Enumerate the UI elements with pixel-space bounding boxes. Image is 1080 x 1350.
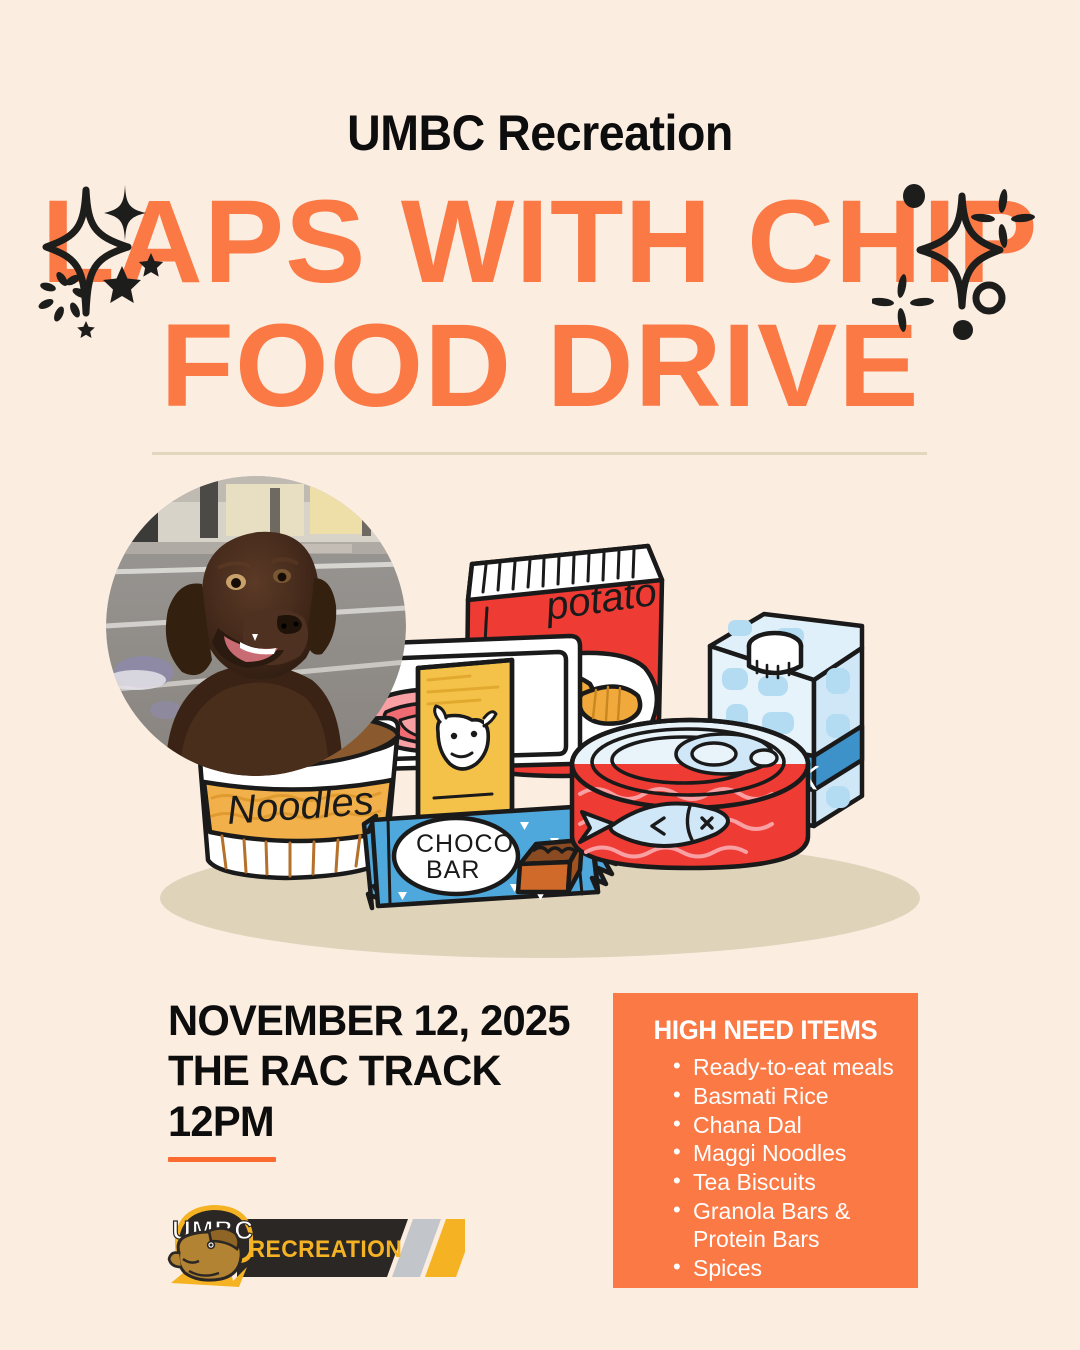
event-date: NOVEMBER 12, 2025 (168, 996, 585, 1046)
event-time: 12PM (168, 1097, 585, 1147)
high-need-item: Maggi Noodles (673, 1140, 900, 1168)
event-location: THE RAC TRACK (168, 1046, 585, 1096)
poster-canvas: UMBC Recreation LAPS WITH CHIP FOOD DRIV… (0, 0, 1080, 1350)
umbc-recreation-logo: RECREATION UMBC (165, 1201, 465, 1293)
organization-name: UMBC Recreation (38, 104, 1042, 162)
high-need-items-list: Ready-to-eat mealsBasmati RiceChana DalM… (673, 1054, 900, 1283)
sardine-can (572, 720, 808, 868)
sparkle-cluster-left-icon (24, 168, 204, 338)
logo-recreation-text: RECREATION (249, 1235, 403, 1262)
dog-photo (106, 476, 406, 776)
high-need-items-box: HIGH NEED ITEMS Ready-to-eat mealsBasmat… (613, 993, 918, 1288)
choco-bar-label-1: CHOCO (416, 830, 514, 858)
high-need-item: Tea Biscuits (673, 1169, 900, 1197)
high-need-item: Chana Dal (673, 1112, 900, 1140)
high-need-item: Spices (673, 1255, 900, 1283)
choco-bar-label-2: BAR (426, 856, 480, 884)
header-divider (152, 452, 927, 455)
high-need-item: Ready-to-eat meals (673, 1054, 900, 1082)
high-need-items-title: HIGH NEED ITEMS (638, 1015, 894, 1046)
sparkle-cluster-right-icon (872, 168, 1062, 368)
hero-illustration: potato (0, 468, 1080, 968)
event-time-underline (168, 1157, 276, 1162)
cereal-box (418, 660, 512, 834)
high-need-item: Granola Bars & Protein Bars (673, 1198, 900, 1254)
event-details: NOVEMBER 12, 2025 THE RAC TRACK 12PM (168, 996, 598, 1162)
high-need-item: Basmati Rice (673, 1083, 900, 1111)
